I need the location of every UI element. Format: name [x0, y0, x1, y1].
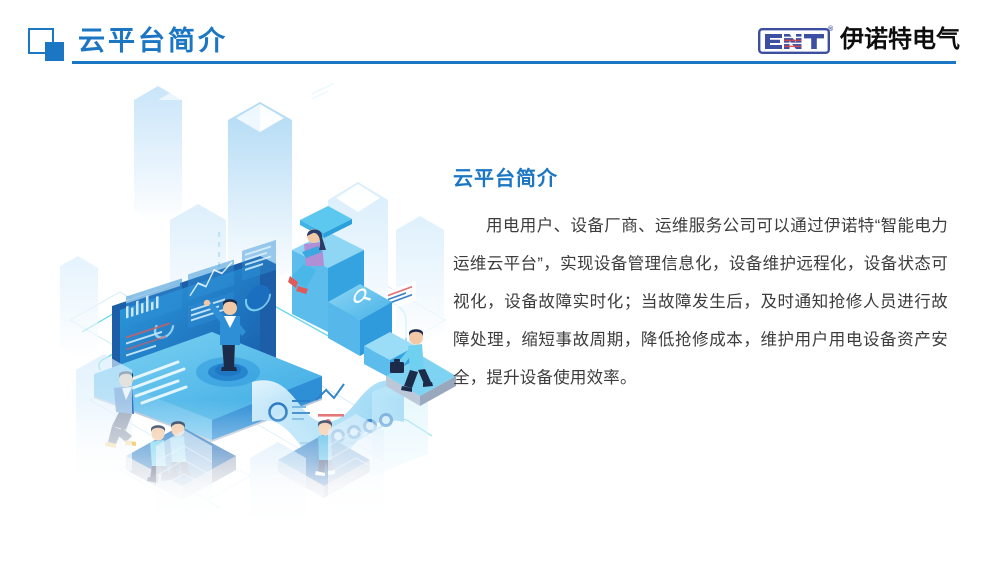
- section-paragraph: 用电用户、设备厂商、运维服务公司可以通过伊诺特“智能电力运维云平台”，实现设备管…: [453, 207, 948, 397]
- square-solid-icon: [45, 42, 64, 61]
- isometric-cloud-platform-illustration: [60, 70, 460, 530]
- header-decor-icon: [28, 28, 70, 62]
- registered-trademark-icon: ®: [828, 26, 833, 33]
- page-title: 云平台简介: [78, 24, 228, 58]
- content-block: 云平台简介 用电用户、设备厂商、运维服务公司可以通过伊诺特“智能电力运维云平台”…: [453, 165, 948, 397]
- ent-logo-mark: ®: [758, 28, 828, 52]
- header-divider: [72, 61, 956, 64]
- slide-root: 云平台简介: [0, 0, 1000, 563]
- slide-header: 云平台简介: [0, 0, 1000, 72]
- section-heading: 云平台简介: [453, 165, 948, 193]
- brand-name: 伊诺特电气: [840, 27, 960, 53]
- brand-logo: ® 伊诺特电气: [758, 22, 960, 58]
